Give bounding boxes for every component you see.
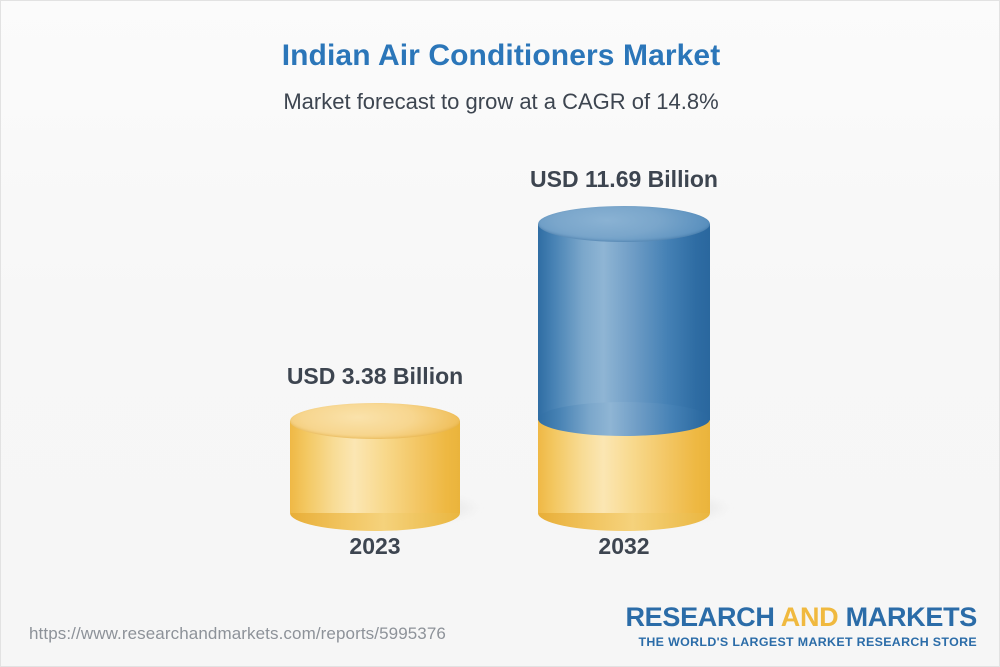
value-label-2032: USD 11.69 Billion <box>509 166 739 193</box>
bar-top-cap-2032 <box>538 206 710 242</box>
brand-logo: RESEARCH AND MARKETS THE WORLD'S LARGEST… <box>625 604 977 648</box>
bar-segment-seam-2032 <box>538 402 710 436</box>
bar-body-2032 <box>538 224 710 513</box>
bar-top-cap-2023 <box>290 403 460 439</box>
category-label-2032: 2032 <box>538 533 710 560</box>
brand-word-research: RESEARCH <box>625 602 780 632</box>
brand-word-markets: MARKETS <box>838 602 977 632</box>
bar-cylinder-2023 <box>290 401 460 531</box>
value-label-2023: USD 3.38 Billion <box>260 363 490 390</box>
chart-plot-area: USD 3.38 Billion 2023 USD 11.69 Billion … <box>1 1 1000 667</box>
bar-cylinder-2032 <box>538 204 710 531</box>
brand-tagline: THE WORLD'S LARGEST MARKET RESEARCH STOR… <box>625 636 977 648</box>
infographic-canvas: Indian Air Conditioners Market Market fo… <box>0 0 1000 667</box>
source-url[interactable]: https://www.researchandmarkets.com/repor… <box>29 624 446 644</box>
category-label-2023: 2023 <box>290 533 460 560</box>
brand-wordmark: RESEARCH AND MARKETS <box>625 604 977 631</box>
brand-word-and: AND <box>781 602 839 632</box>
bar-segment-blue-2032 <box>538 224 710 420</box>
